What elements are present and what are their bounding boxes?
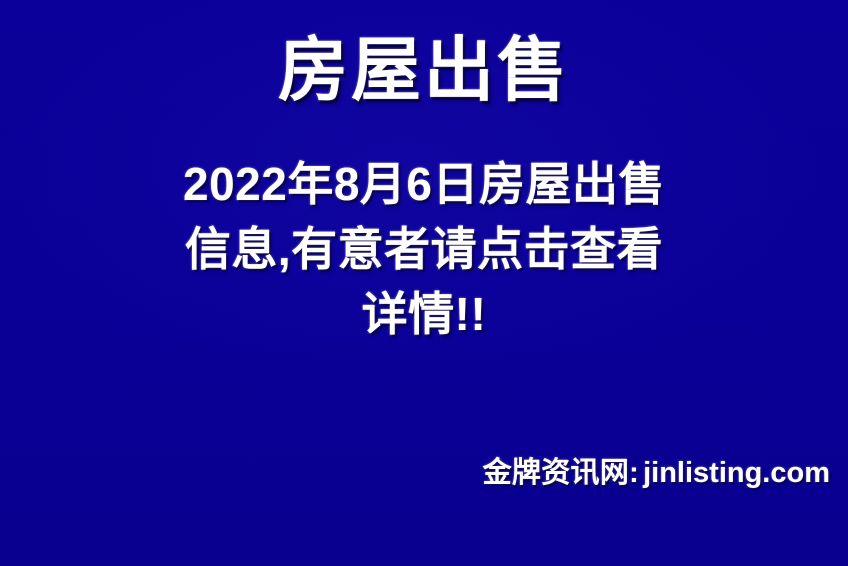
announcement-line-3: 详情!!: [0, 282, 848, 347]
promo-poster: 房屋出售 2022年8月6日房屋出售 信息,有意者请点击查看 详情!! 金牌资讯…: [0, 0, 848, 566]
site-credit: 金牌资讯网:jinlisting.com: [483, 455, 830, 491]
site-url-text: jinlisting.com: [643, 457, 830, 489]
announcement-body: 2022年8月6日房屋出售 信息,有意者请点击查看 详情!!: [0, 152, 848, 347]
site-name-label: 金牌资讯网:: [483, 457, 639, 489]
page-title: 房屋出售: [0, 28, 848, 112]
announcement-line-1: 2022年8月6日房屋出售: [0, 152, 848, 217]
announcement-line-2: 信息,有意者请点击查看: [0, 217, 848, 282]
